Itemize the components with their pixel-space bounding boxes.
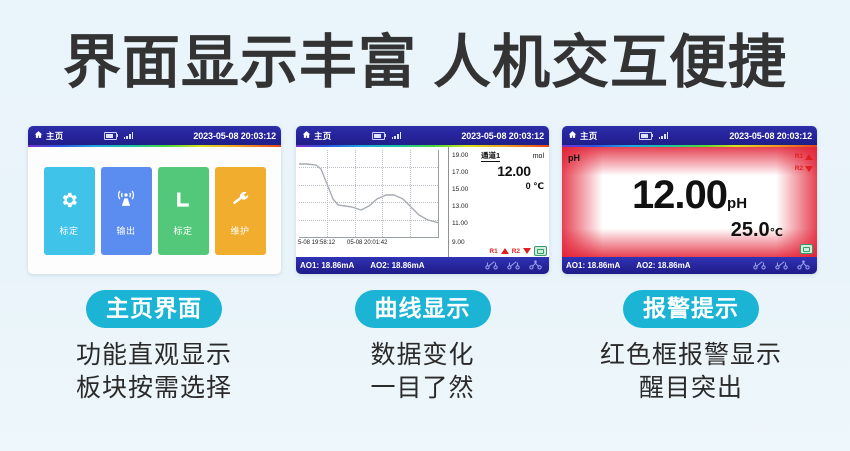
curve-readout-panel: 通道1 mol 12.00 0 ℃ R1 R2 <box>479 147 549 257</box>
caption-line2: 一目了然 <box>300 372 545 405</box>
device-screen-alarm: 主页 2023-05-08 20:03:12 pH R1 R2 <box>562 126 817 274</box>
ao1-value: AO1: 18.86mA <box>300 261 354 270</box>
home-tile-label: 标定 <box>173 224 192 237</box>
home-tile-label: 输出 <box>116 224 135 237</box>
home-icon[interactable] <box>34 130 43 141</box>
page-title: 界面显示丰富人机交互便捷 <box>0 28 850 98</box>
status-bar-indicators <box>588 132 720 140</box>
chart-y-axis: 19.00 17.00 15.00 13.00 11.00 9.00 <box>448 147 479 257</box>
home-tile-curve[interactable]: 标定 <box>158 167 209 255</box>
alarm-temperature-unit: ℃ <box>770 227 783 239</box>
ao2-value: AO2: 18.86mA <box>370 261 424 270</box>
chart-series-line <box>299 150 439 238</box>
alarm-main-unit: pH <box>727 195 747 212</box>
bottom-bar-2: AO1: 18.86mA AO2: 18.86mA <box>296 257 549 274</box>
trend-chart[interactable]: 5-08 19:58:1205-08 20:01:42 <box>296 147 448 257</box>
home-tile-grid: 标定 输出 标定 <box>28 147 281 274</box>
chart-y-tick: 19.00 <box>452 152 468 159</box>
relay1-label: R1 <box>795 153 803 160</box>
promo-page: 界面显示丰富人机交互便捷 主页 2023-05-08 20:03:12 <box>0 0 850 451</box>
readout-temperature: 0 ℃ <box>479 181 549 192</box>
relay-icon-1[interactable] <box>485 259 498 272</box>
captions-row: 主页界面 功能直观显示 板块按需选择 曲线显示 数据变化 一目了然 报警提示 红… <box>0 290 850 450</box>
caption-line2: 板块按需选择 <box>18 372 290 405</box>
alarm-relay2: R2 <box>795 165 813 172</box>
relay-indicators: R1 R2 <box>481 246 547 256</box>
chart-x-tick-start: 5-08 19:58:12 <box>298 240 335 246</box>
home-tile-output[interactable]: 输出 <box>101 167 152 255</box>
chart-y-tick: 17.00 <box>452 169 468 176</box>
alarm-main-value: 12.00 <box>632 173 727 217</box>
status-bar-1: 主页 2023-05-08 20:03:12 <box>28 126 281 145</box>
relay-icon-2[interactable] <box>507 259 520 272</box>
home-icon[interactable] <box>302 130 311 141</box>
device-screen-curve: 主页 2023-05-08 20:03:12 <box>296 126 549 274</box>
caption-block-alarm: 报警提示 红色框报警显示 醒目突出 <box>556 290 826 405</box>
home-icon[interactable] <box>568 130 577 141</box>
caption-badge: 曲线显示 <box>355 290 491 328</box>
relay1-label: R1 <box>489 248 497 255</box>
relay-ok-icon <box>534 246 547 256</box>
ao2-value: AO2: 18.86mA <box>636 261 690 270</box>
status-bar-indicators <box>322 132 452 140</box>
alarm-display: pH R1 R2 12.00pH 25.0℃ <box>562 147 817 257</box>
relay2-label: R2 <box>512 248 520 255</box>
battery-icon <box>639 132 652 140</box>
relay-icon-3[interactable] <box>797 259 810 272</box>
triangle-down-icon <box>805 166 813 172</box>
home-tile-label: 维护 <box>230 224 249 237</box>
status-bar-indicators <box>54 132 184 140</box>
readout-value: 12.00 <box>479 163 549 179</box>
chart-y-tick: 9.00 <box>452 239 465 246</box>
caption-block-curve: 曲线显示 数据变化 一目了然 <box>300 290 545 405</box>
chart-y-tick: 13.00 <box>452 203 468 210</box>
signal-bars-icon <box>659 132 668 139</box>
triangle-down-icon <box>523 248 531 254</box>
home-tile-calibration[interactable]: 标定 <box>44 167 95 255</box>
alarm-temperature: 25.0 <box>731 219 770 241</box>
alarm-param-label: pH <box>568 153 580 163</box>
battery-icon <box>104 132 117 140</box>
signal-bars-icon <box>392 132 401 139</box>
readout-header: 通道1 mol <box>479 150 549 162</box>
caption-line1: 数据变化 <box>300 339 545 372</box>
caption-badge: 报警提示 <box>623 290 759 328</box>
caption-block-home: 主页界面 功能直观显示 板块按需选择 <box>18 290 290 405</box>
caption-text: 红色框报警显示 醒目突出 <box>556 339 826 405</box>
gear-icon <box>59 185 79 215</box>
chart-axis-icon <box>173 185 193 215</box>
chart-x-axis: 5-08 19:58:1205-08 20:01:42 <box>298 240 448 246</box>
signal-bars-icon <box>124 132 133 139</box>
status-bar-timestamp: 2023-05-08 20:03:12 <box>729 131 812 141</box>
chart-y-tick: 11.00 <box>452 220 468 227</box>
caption-line1: 红色框报警显示 <box>556 339 826 372</box>
relay-icon-2[interactable] <box>775 259 788 272</box>
status-bar-timestamp: 2023-05-08 20:03:12 <box>461 131 544 141</box>
readout-unit: mol <box>533 153 544 160</box>
home-tile-maintenance[interactable]: 维护 <box>215 167 266 255</box>
bottom-bar-3: AO1: 18.86mA AO2: 18.86mA <box>562 257 817 274</box>
ao1-value: AO1: 18.86mA <box>566 261 620 270</box>
relay-icon-1[interactable] <box>753 259 766 272</box>
relay-ok-icon <box>800 244 813 254</box>
status-bar-3: 主页 2023-05-08 20:03:12 <box>562 126 817 145</box>
chart-plot-area <box>299 150 439 238</box>
chart-x-tick-mid: 05-08 20:01:42 <box>347 240 387 246</box>
status-bar-timestamp: 2023-05-08 20:03:12 <box>193 131 276 141</box>
device-screens-row: 主页 2023-05-08 20:03:12 标定 <box>0 126 850 278</box>
status-bar-2: 主页 2023-05-08 20:03:12 <box>296 126 549 145</box>
triangle-up-icon <box>501 248 509 254</box>
curve-body: 5-08 19:58:1205-08 20:01:42 19.00 17.00 … <box>296 147 549 257</box>
device-screen-home: 主页 2023-05-08 20:03:12 标定 <box>28 126 281 274</box>
chart-y-tick: 15.00 <box>452 186 468 193</box>
page-title-part1: 界面显示丰富 <box>63 30 417 95</box>
relay2-label: R2 <box>795 165 803 172</box>
home-tile-label: 标定 <box>59 224 78 237</box>
alarm-temperature-group: 25.0℃ <box>731 219 783 242</box>
battery-icon <box>372 132 385 140</box>
bottom-bar-icons <box>691 259 811 272</box>
alarm-relay1: R1 <box>795 153 813 160</box>
antenna-icon <box>115 185 137 215</box>
caption-line2: 醒目突出 <box>556 372 826 405</box>
bottom-bar-icons <box>425 259 543 272</box>
triangle-up-icon <box>805 154 813 160</box>
wrench-icon <box>230 185 250 215</box>
caption-text: 功能直观显示 板块按需选择 <box>18 339 290 405</box>
page-title-part2: 人机交互便捷 <box>433 30 787 95</box>
relay-icon-3[interactable] <box>529 259 542 272</box>
caption-text: 数据变化 一目了然 <box>300 339 545 405</box>
readout-channel-label: 通道1 <box>481 150 500 162</box>
caption-line1: 功能直观显示 <box>18 339 290 372</box>
caption-badge: 主页界面 <box>86 290 222 328</box>
